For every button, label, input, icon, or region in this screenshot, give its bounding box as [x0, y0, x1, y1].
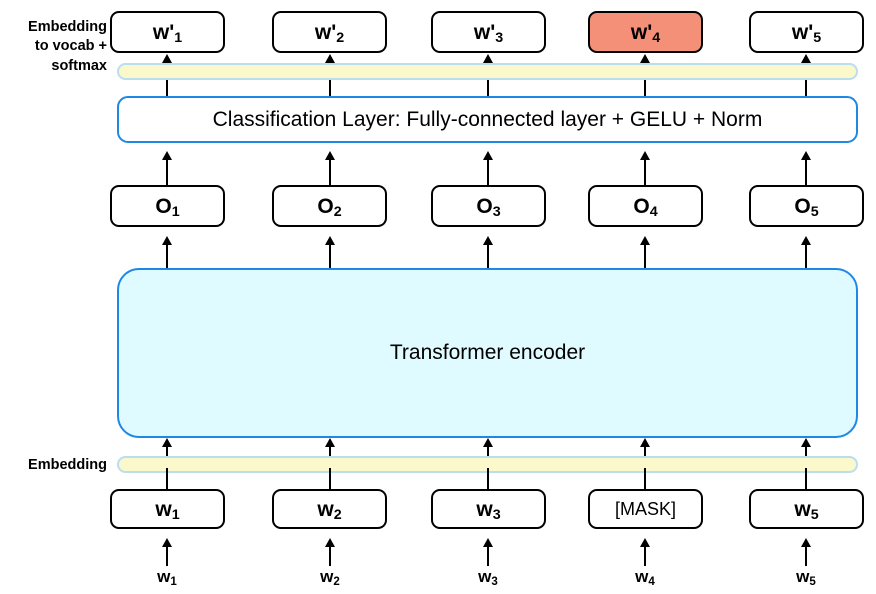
hidden-token-box-3: O3	[431, 185, 546, 227]
arrow-hidden-to-classifier-5	[805, 160, 807, 185]
arrowhead-word-to-input-4	[640, 538, 650, 547]
arrowhead-classifier-to-output-4	[640, 54, 650, 63]
output-token-box-2: w'2	[272, 11, 387, 53]
side-label-embedding: Embedding	[0, 456, 107, 475]
output-token-box-3: w'3	[431, 11, 546, 53]
transformer-encoder-label: Transformer encoder	[390, 341, 585, 365]
hidden-token-box-2: O2	[272, 185, 387, 227]
side-label-line-1: Embedding	[0, 18, 107, 37]
arrowhead-word-to-input-5	[801, 538, 811, 547]
side-label-embedding-to-vocab-softmax: Embedding to vocab + softmax	[0, 18, 107, 76]
input-token-box-1: w1	[110, 489, 225, 529]
arrowhead-encoder-to-hidden-5	[801, 236, 811, 245]
input-token-label-4: [MASK]	[615, 500, 676, 518]
arrow-encoder-to-hidden-4	[644, 245, 646, 268]
arrow-word-to-input-1	[166, 547, 168, 566]
stem-input-to-embedding-4	[644, 468, 646, 490]
arrowhead-encoder-to-hidden-1	[162, 236, 172, 245]
output-token-label-2: w'2	[315, 22, 344, 43]
output-token-label-5: w'5	[792, 22, 821, 43]
hidden-token-box-4: O4	[588, 185, 703, 227]
arrowhead-hidden-to-classifier-5	[801, 151, 811, 160]
arrowhead-encoder-to-hidden-2	[325, 236, 335, 245]
arrowhead-word-to-input-1	[162, 538, 172, 547]
source-word-label-1: w1	[157, 567, 177, 587]
arrow-encoder-to-hidden-5	[805, 245, 807, 268]
arrow-word-to-input-4	[644, 547, 646, 566]
arrowhead-encoder-to-hidden-3	[483, 236, 493, 245]
arrow-hidden-to-classifier-2	[329, 160, 331, 185]
arrow-word-to-input-5	[805, 547, 807, 566]
arrowhead-encoder-to-hidden-4	[640, 236, 650, 245]
input-token-label-1: w1	[155, 499, 179, 520]
arrow-hidden-to-classifier-4	[644, 160, 646, 185]
arrow-encoder-to-hidden-1	[166, 245, 168, 268]
output-token-box-5: w'5	[749, 11, 864, 53]
arrowhead-embedding-to-encoder-2	[325, 438, 335, 447]
hidden-token-label-2: O2	[317, 196, 341, 217]
arrowhead-classifier-to-output-3	[483, 54, 493, 63]
arrow-hidden-to-classifier-3	[487, 160, 489, 185]
arrowhead-word-to-input-2	[325, 538, 335, 547]
hidden-token-label-4: O4	[633, 196, 657, 217]
input-token-box-5: w5	[749, 489, 864, 529]
arrow-word-to-input-2	[329, 547, 331, 566]
output-token-label-1: w'1	[153, 22, 182, 43]
hidden-token-box-5: O5	[749, 185, 864, 227]
arrow-hidden-to-classifier-1	[166, 160, 168, 185]
input-token-label-5: w5	[794, 499, 818, 520]
source-word-label-3: w3	[478, 567, 498, 587]
stem-input-to-embedding-3	[487, 468, 489, 490]
arrowhead-embedding-to-encoder-5	[801, 438, 811, 447]
arrow-word-to-input-3	[487, 547, 489, 566]
source-word-label-5: w5	[796, 567, 816, 587]
input-token-box-3: w3	[431, 489, 546, 529]
stem-input-to-embedding-1	[166, 468, 168, 490]
arrowhead-hidden-to-classifier-2	[325, 151, 335, 160]
arrowhead-classifier-to-output-5	[801, 54, 811, 63]
input-token-box-4-mask: [MASK]	[588, 489, 703, 529]
output-token-label-3: w'3	[474, 22, 503, 43]
stem-input-to-embedding-2	[329, 468, 331, 490]
hidden-token-label-1: O1	[155, 196, 179, 217]
source-word-label-4: w4	[635, 567, 655, 587]
arrow-encoder-to-hidden-2	[329, 245, 331, 268]
hidden-token-label-3: O3	[476, 196, 500, 217]
input-token-label-2: w2	[317, 499, 341, 520]
arrowhead-embedding-to-encoder-1	[162, 438, 172, 447]
input-token-box-2: w2	[272, 489, 387, 529]
arrowhead-word-to-input-3	[483, 538, 493, 547]
classification-layer-label: Classification Layer: Fully-connected la…	[213, 108, 763, 132]
arrowhead-embedding-to-encoder-3	[483, 438, 493, 447]
output-token-box-4: w'4	[588, 11, 703, 53]
output-token-label-4: w'4	[631, 22, 660, 43]
output-token-box-1: w'1	[110, 11, 225, 53]
arrowhead-classifier-to-output-2	[325, 54, 335, 63]
source-word-label-2: w2	[320, 567, 340, 587]
stem-input-to-embedding-5	[805, 468, 807, 490]
embedding-to-vocab-bar	[117, 63, 858, 80]
hidden-token-label-5: O5	[794, 196, 818, 217]
hidden-token-box-1: O1	[110, 185, 225, 227]
arrowhead-hidden-to-classifier-4	[640, 151, 650, 160]
side-label-line-3: softmax	[0, 57, 107, 76]
side-label-line-2: to vocab +	[0, 37, 107, 56]
bert-mlm-architecture-diagram: Embedding to vocab + softmax Embedding w…	[0, 0, 876, 594]
side-label-embedding-line-1: Embedding	[0, 456, 107, 475]
arrowhead-hidden-to-classifier-1	[162, 151, 172, 160]
arrow-encoder-to-hidden-3	[487, 245, 489, 268]
transformer-encoder-box: Transformer encoder	[117, 268, 858, 438]
input-token-label-3: w3	[476, 499, 500, 520]
arrowhead-hidden-to-classifier-3	[483, 151, 493, 160]
classification-layer-box: Classification Layer: Fully-connected la…	[117, 96, 858, 143]
arrowhead-classifier-to-output-1	[162, 54, 172, 63]
arrowhead-embedding-to-encoder-4	[640, 438, 650, 447]
